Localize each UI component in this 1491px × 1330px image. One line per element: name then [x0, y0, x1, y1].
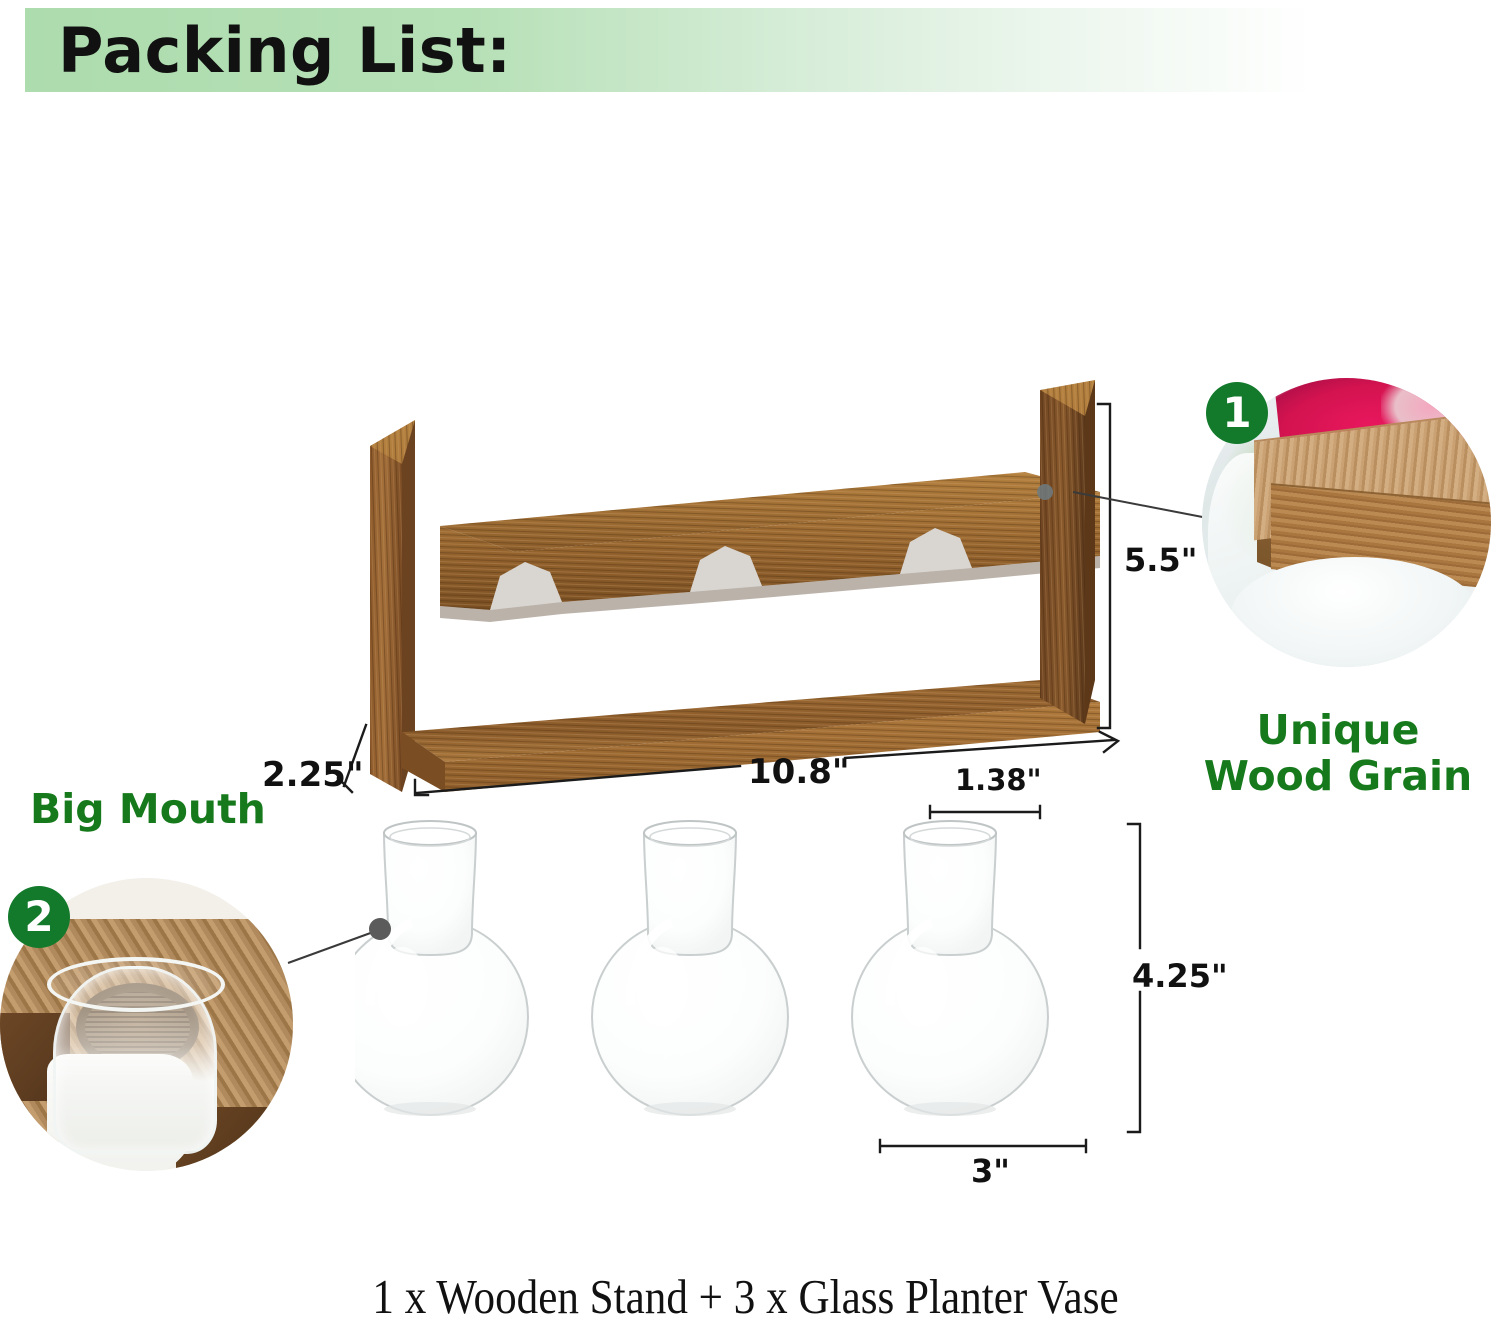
product-caption: 1 x Wooden Stand + 3 x Glass Planter Vas…	[89, 1268, 1401, 1325]
dimension-vase-width: 3"	[971, 1152, 1010, 1190]
wooden-stand-illustration	[340, 380, 1130, 800]
dimension-vase-height: 4.25"	[1132, 957, 1228, 995]
dimension-stand-width: 10.8"	[748, 752, 850, 792]
dimension-vase-mouth: 1.38"	[955, 763, 1042, 797]
feature-badge-2: 2	[8, 886, 70, 948]
infographic-canvas: Packing List:	[0, 0, 1491, 1330]
dimension-stand-height: 5.5"	[1124, 541, 1197, 579]
page-title: Packing List:	[58, 8, 758, 92]
feature-label-wood-grain: Unique Wood Grain	[1188, 708, 1488, 800]
feature-badge-1: 1	[1206, 382, 1268, 444]
glass-vases-illustration	[355, 805, 1145, 1155]
feature-label-wood-grain-line1: Unique	[1188, 708, 1488, 754]
dimension-stand-depth: 2.25"	[262, 755, 364, 795]
feature-label-big-mouth: Big Mouth	[30, 785, 266, 833]
feature-label-wood-grain-line2: Wood Grain	[1188, 754, 1488, 800]
